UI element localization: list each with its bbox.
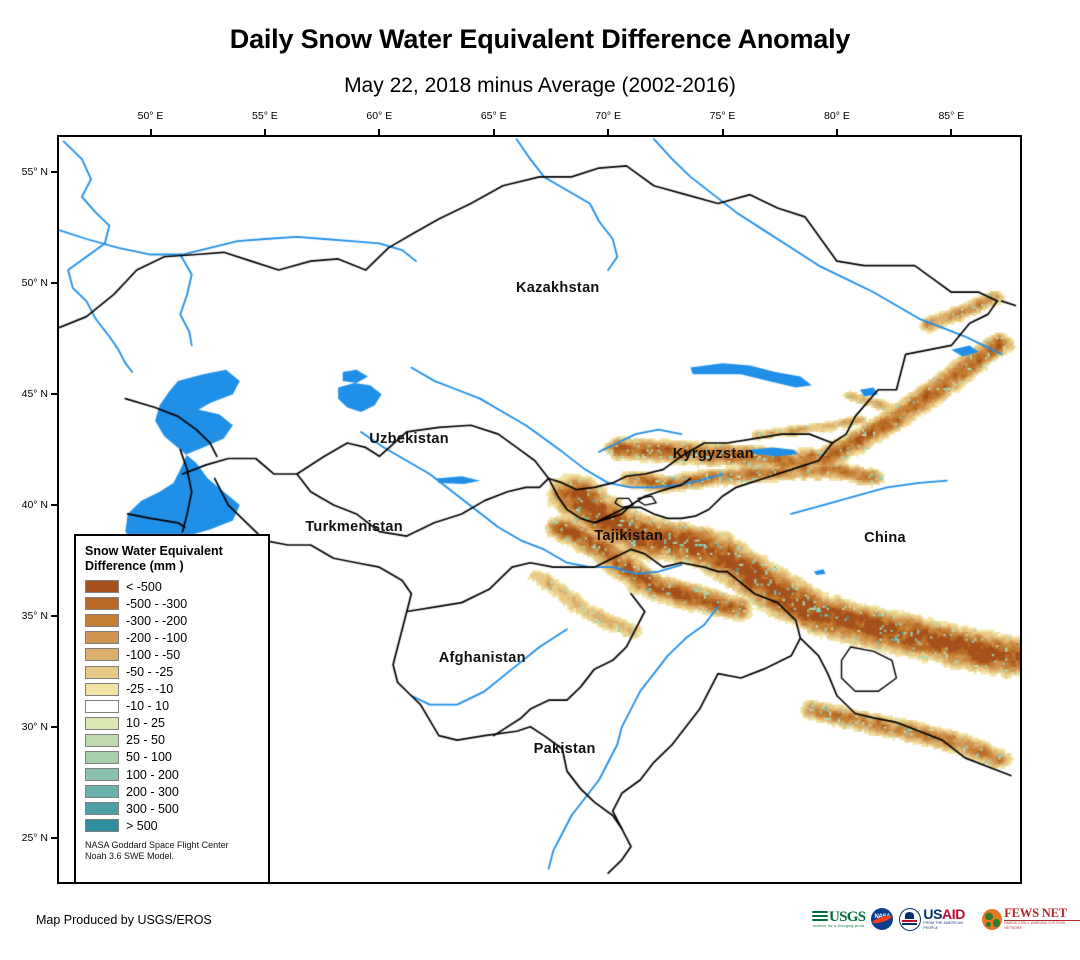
lon-tick-70: [607, 129, 609, 136]
lat-label-25: 25° N: [12, 832, 48, 844]
legend-label: -100 - -50: [126, 648, 180, 662]
legend-row: 100 - 200: [85, 766, 261, 783]
page-subtitle: May 22, 2018 minus Average (2002-2016): [0, 74, 1080, 98]
legend-label: 50 - 100: [126, 750, 172, 764]
country-label-kazakhstan: Kazakhstan: [516, 280, 600, 296]
lat-label-50: 50° N: [12, 277, 48, 289]
lon-label-70: 70° E: [595, 110, 621, 122]
legend-swatch: [85, 700, 119, 713]
lat-label-40: 40° N: [12, 499, 48, 511]
usaid-logo-tagline: FROM THE AMERICAN PEOPLE: [923, 921, 976, 931]
legend-row: > 500: [85, 817, 261, 834]
lon-label-55: 55° E: [252, 110, 278, 122]
lon-tick-55: [264, 129, 266, 136]
legend-swatch: [85, 717, 119, 730]
legend-label: 10 - 25: [126, 716, 165, 730]
usgs-logo-tagline: science for a changing world: [813, 924, 864, 929]
legend-row: 50 - 100: [85, 749, 261, 766]
legend-swatch: [85, 580, 119, 593]
legend-row: -500 - -300: [85, 595, 261, 612]
legend-label: -10 - 10: [126, 699, 169, 713]
lon-label-80: 80° E: [824, 110, 850, 122]
legend-title-line1: Snow Water Equivalent: [85, 544, 261, 559]
lon-label-75: 75° E: [710, 110, 736, 122]
lat-label-55: 55° N: [12, 166, 48, 178]
lat-tick-40: [51, 504, 58, 506]
fews-globe-icon: [982, 909, 1002, 930]
lon-tick-50: [150, 129, 152, 136]
legend-label: -50 - -25: [126, 665, 173, 679]
usgs-logo-text: USGS: [829, 910, 865, 924]
legend-row: -25 - -10: [85, 681, 261, 698]
legend-row: -300 - -200: [85, 612, 261, 629]
legend-swatch: [85, 631, 119, 644]
lon-tick-85: [950, 129, 952, 136]
lat-label-35: 35° N: [12, 610, 48, 622]
legend-row: 300 - 500: [85, 800, 261, 817]
lon-label-85: 85° E: [938, 110, 964, 122]
lon-tick-75: [722, 129, 724, 136]
lat-tick-25: [51, 837, 58, 839]
lat-tick-35: [51, 615, 58, 617]
legend-label: -300 - -200: [126, 614, 187, 628]
legend-title-line2: Difference (mm ): [85, 559, 261, 574]
legend-row: < -500: [85, 578, 261, 595]
lat-tick-45: [51, 393, 58, 395]
legend-title: Snow Water Equivalent Difference (mm ): [85, 544, 261, 573]
legend-source-line1: NASA Goddard Space Flight Center: [85, 840, 261, 851]
legend-swatch: [85, 614, 119, 627]
legend-panel[interactable]: Snow Water Equivalent Difference (mm ) <…: [74, 534, 270, 884]
legend-label: -200 - -100: [126, 631, 187, 645]
map-credit: Map Produced by USGS/EROS: [36, 913, 212, 927]
legend-label: 300 - 500: [126, 802, 179, 816]
legend-label: -25 - -10: [126, 682, 173, 696]
country-label-kyrgyzstan: Kyrgyzstan: [673, 446, 754, 462]
legend-swatch: [85, 751, 119, 764]
legend-swatch: [85, 802, 119, 815]
logo-strip: USGS science for a changing world NASA U…: [812, 903, 1080, 935]
legend-row: -100 - -50: [85, 646, 261, 663]
lon-tick-80: [836, 129, 838, 136]
legend-label: 25 - 50: [126, 733, 165, 747]
legend-source: NASA Goddard Space Flight Center Noah 3.…: [85, 840, 261, 862]
country-label-uzbekistan: Uzbekistan: [369, 431, 449, 447]
lat-tick-50: [51, 282, 58, 284]
legend-row: -50 - -25: [85, 663, 261, 680]
lat-tick-30: [51, 726, 58, 728]
usaid-seal-icon: [899, 908, 921, 931]
lat-label-30: 30° N: [12, 721, 48, 733]
lon-label-60: 60° E: [366, 110, 392, 122]
lon-label-65: 65° E: [481, 110, 507, 122]
lon-tick-60: [378, 129, 380, 136]
legend-swatch: [85, 597, 119, 610]
legend-row: 200 - 300: [85, 783, 261, 800]
country-label-turkmenistan: Turkmenistan: [305, 519, 403, 535]
page-title: Daily Snow Water Equivalent Difference A…: [0, 24, 1080, 55]
fews-net-logo[interactable]: FEWS NET FAMINE EARLY WARNING SYSTEMS NE…: [982, 906, 1080, 932]
nasa-meatball-icon: NASA: [871, 908, 893, 930]
legend-swatch: [85, 734, 119, 747]
lat-tick-55: [51, 171, 58, 173]
legend-row: 25 - 50: [85, 732, 261, 749]
legend-swatch: [85, 785, 119, 798]
usaid-logo-text: USAID: [923, 908, 976, 921]
country-label-tajikistan: Tajikistan: [594, 528, 663, 544]
legend-swatch: [85, 683, 119, 696]
legend-label: 200 - 300: [126, 785, 179, 799]
legend-label: < -500: [126, 580, 162, 594]
lat-label-45: 45° N: [12, 388, 48, 400]
country-label-afghanistan: Afghanistan: [439, 650, 526, 666]
legend-source-line2: Noah 3.6 SWE Model.: [85, 851, 261, 862]
legend-label: -500 - -300: [126, 597, 187, 611]
legend-row: -200 - -100: [85, 629, 261, 646]
legend-swatch: [85, 768, 119, 781]
legend-swatch: [85, 666, 119, 679]
country-label-china: China: [864, 530, 906, 546]
nasa-logo[interactable]: NASA: [871, 906, 893, 932]
lon-tick-65: [493, 129, 495, 136]
fews-logo-tagline: FAMINE EARLY WARNING SYSTEMS NETWORK: [1004, 921, 1080, 931]
usgs-wave-icon: [812, 910, 828, 923]
usgs-logo[interactable]: USGS science for a changing world: [812, 906, 865, 932]
fews-logo-text: FEWS NET: [1004, 907, 1080, 921]
legend-label: 100 - 200: [126, 768, 179, 782]
legend-row: -10 - 10: [85, 698, 261, 715]
usaid-logo[interactable]: USAID FROM THE AMERICAN PEOPLE: [899, 906, 976, 932]
legend-class-list: < -500-500 - -300-300 - -200-200 - -100-…: [85, 578, 261, 834]
legend-label: > 500: [126, 819, 158, 833]
legend-swatch: [85, 648, 119, 661]
legend-swatch: [85, 819, 119, 832]
lon-label-50: 50° E: [138, 110, 164, 122]
legend-row: 10 - 25: [85, 715, 261, 732]
country-label-pakistan: Pakistan: [534, 741, 596, 757]
